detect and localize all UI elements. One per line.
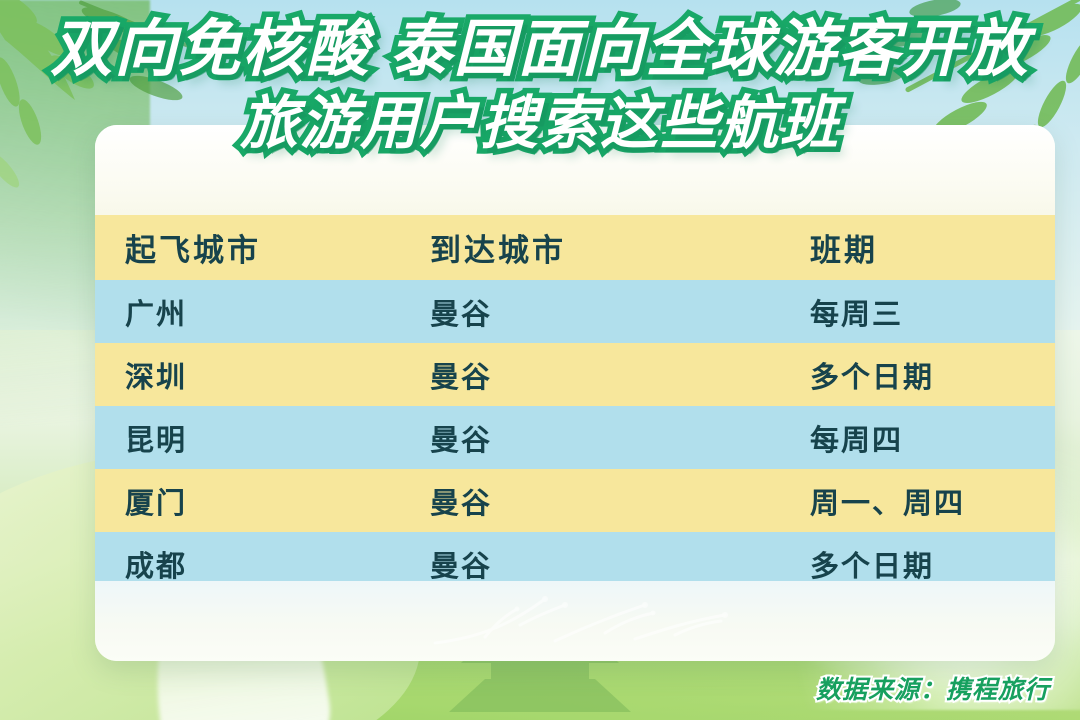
cell-schedule: 每周四 [810, 417, 1055, 459]
table-row: 昆明 曼谷 每周四 [95, 406, 1055, 469]
table-header-row: 起飞城市 到达城市 班期 [95, 215, 1055, 280]
cell-schedule: 周一、周四 [810, 480, 1055, 522]
card-bottom-strip [95, 581, 1055, 661]
cell-arrival-city: 曼谷 [430, 543, 810, 585]
cell-arrival-city: 曼谷 [430, 291, 810, 333]
header-arrival-city: 到达城市 [430, 225, 810, 270]
cell-arrival-city: 曼谷 [430, 417, 810, 459]
flight-table-card: 起飞城市 到达城市 班期 广州 曼谷 每周三 深圳 曼谷 多个日期 昆明 曼谷 … [95, 125, 1055, 661]
cell-departure-city: 深圳 [125, 354, 430, 396]
cell-departure-city: 成都 [125, 543, 430, 585]
poster-title-block: 双向免核酸 泰国面向全球游客开放 旅游用户搜索这些航班 [0, 18, 1080, 155]
title-line-secondary: 旅游用户搜索这些航班 [0, 94, 1080, 154]
flight-schedule-table: 起飞城市 到达城市 班期 广州 曼谷 每周三 深圳 曼谷 多个日期 昆明 曼谷 … [95, 215, 1055, 595]
infographic-poster: 双向免核酸 泰国面向全球游客开放 旅游用户搜索这些航班 起飞城市 到达城市 班期 [0, 0, 1080, 720]
cell-schedule: 每周三 [810, 291, 1055, 333]
header-schedule: 班期 [810, 225, 1055, 270]
cell-departure-city: 昆明 [125, 417, 430, 459]
data-source-note: 数据来源：携程旅行 [816, 670, 1050, 706]
table-row: 厦门 曼谷 周一、周四 [95, 469, 1055, 532]
white-branch-icon [425, 591, 755, 651]
cell-schedule: 多个日期 [810, 354, 1055, 396]
cell-departure-city: 广州 [125, 291, 430, 333]
cell-departure-city: 厦门 [125, 480, 430, 522]
cell-arrival-city: 曼谷 [430, 480, 810, 522]
title-line-primary: 双向免核酸 泰国面向全球游客开放 [0, 18, 1080, 82]
cell-arrival-city: 曼谷 [430, 354, 810, 396]
table-row: 深圳 曼谷 多个日期 [95, 343, 1055, 406]
cell-schedule: 多个日期 [810, 543, 1055, 585]
table-row: 广州 曼谷 每周三 [95, 280, 1055, 343]
header-departure-city: 起飞城市 [125, 225, 430, 270]
